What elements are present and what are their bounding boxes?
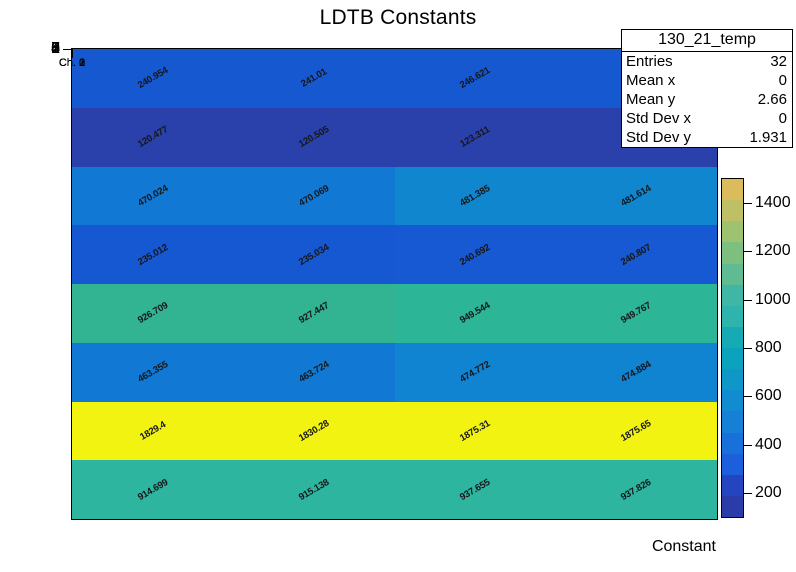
heatmap-cell[interactable]: 1830.28 — [233, 402, 394, 461]
stats-row-value: 32 — [770, 52, 787, 71]
color-scale-band — [722, 221, 743, 242]
heatmap-row: 470.024470.069481.385481.614 — [72, 167, 717, 226]
color-scale-band — [722, 179, 743, 200]
color-scale-tick-label: 1200 — [755, 242, 791, 260]
stats-row-key: Mean x — [626, 71, 675, 90]
heatmap-cell[interactable]: 123.311 — [395, 108, 556, 167]
color-scale-band — [722, 369, 743, 390]
heatmap-cell-value: 949.767 — [619, 300, 653, 326]
heatmap-cell-value: 481.614 — [619, 183, 653, 209]
page-title: LDTB Constants — [0, 6, 796, 30]
heatmap-cell[interactable]: 481.614 — [556, 167, 717, 226]
stats-box[interactable]: 130_21_temp Entries32Mean x0Mean y2.66St… — [621, 29, 793, 148]
heatmap-cell[interactable]: 474.772 — [395, 343, 556, 402]
heatmap-cell-value: 235.034 — [297, 242, 331, 268]
heatmap-cell-value: 246.621 — [458, 65, 492, 91]
heatmap-cell-value: 1830.28 — [297, 418, 331, 444]
heatmap-cell[interactable]: 463.724 — [233, 343, 394, 402]
heatmap-cell-value: 1875.31 — [458, 418, 492, 444]
color-scale-bar[interactable]: 200400600800100012001400 — [721, 178, 744, 518]
heatmap-cell[interactable]: 240.807 — [556, 225, 717, 284]
heatmap-cell[interactable]: 937.655 — [395, 460, 556, 519]
heatmap-cell-value: 1875.65 — [619, 418, 653, 444]
heatmap-cell[interactable]: 1829.4 — [72, 402, 233, 461]
stats-row: Mean y2.66 — [622, 90, 792, 109]
heatmap-row: 914.699915.138937.655937.826 — [72, 460, 717, 519]
color-scale-tick-label: 600 — [755, 387, 782, 405]
heatmap-cell[interactable]: 235.034 — [233, 225, 394, 284]
heatmap-cell-value: 120.477 — [136, 124, 170, 150]
color-scale-tick-label: 1000 — [755, 291, 791, 309]
heatmap-cell-value: 1829.4 — [138, 419, 168, 442]
heatmap-cell[interactable]: 240.692 — [395, 225, 556, 284]
stats-box-rows: Entries32Mean x0Mean y2.66Std Dev x0Std … — [622, 52, 792, 147]
heatmap-row: 235.012235.034240.692240.807 — [72, 225, 717, 284]
stats-row-value: 0 — [779, 109, 787, 128]
x-axis-title: Constant — [652, 538, 716, 556]
heatmap-cell-value: 241.01 — [299, 67, 329, 90]
heatmap-cell-value: 937.655 — [458, 477, 492, 503]
heatmap-cell[interactable]: 949.767 — [556, 284, 717, 343]
color-scale-band — [722, 242, 743, 263]
x-axis-tick-label: Ch. 3 — [59, 57, 85, 69]
heatmap-row: 1829.41830.281875.311875.65 — [72, 402, 717, 461]
heatmap-cell-value: 927.447 — [297, 300, 331, 326]
color-scale-band — [722, 433, 743, 454]
heatmap-cell-value: 470.024 — [136, 183, 170, 209]
color-scale-tick — [743, 300, 752, 301]
heatmap-cell[interactable]: 470.024 — [72, 167, 233, 226]
heatmap-cell-value: 949.544 — [458, 300, 492, 326]
heatmap-cell-value: 470.069 — [297, 183, 331, 209]
heatmap-cell-value: 240.807 — [619, 242, 653, 268]
heatmap-cell-value: 240.954 — [136, 65, 170, 91]
color-scale-tick — [743, 396, 752, 397]
heatmap-cell[interactable]: 246.621 — [395, 49, 556, 108]
root-canvas: LDTB Constants 240.954241.01246.621120.4… — [0, 0, 796, 572]
color-scale-tick-label: 200 — [755, 484, 782, 502]
heatmap-cell[interactable]: 481.385 — [395, 167, 556, 226]
color-scale-band — [722, 264, 743, 285]
heatmap-cell[interactable]: 240.954 — [72, 49, 233, 108]
color-scale-tick — [743, 348, 752, 349]
color-scale-band — [722, 306, 743, 327]
stats-row: Std Dev y1.931 — [622, 128, 792, 147]
heatmap-cell-value: 240.692 — [458, 242, 492, 268]
color-scale-tick — [743, 445, 752, 446]
stats-row-value: 2.66 — [758, 90, 787, 109]
color-scale-gradient — [722, 179, 743, 517]
heatmap-cell-value: 120.505 — [297, 124, 331, 150]
heatmap-cell-value: 915.138 — [297, 477, 331, 503]
heatmap-cell[interactable]: 463.355 — [72, 343, 233, 402]
heatmap-cell[interactable]: 949.544 — [395, 284, 556, 343]
color-scale-band — [722, 390, 743, 411]
heatmap-cell[interactable]: 235.012 — [72, 225, 233, 284]
color-scale-tick — [743, 251, 752, 252]
y-axis-tick — [63, 49, 72, 50]
color-scale-tick-label: 1400 — [755, 194, 791, 212]
heatmap-row: 926.709927.447949.544949.767 — [72, 284, 717, 343]
heatmap-cell[interactable]: 1875.31 — [395, 402, 556, 461]
stats-row: Std Dev x0 — [622, 109, 792, 128]
heatmap-cell-value: 474.772 — [458, 359, 492, 385]
heatmap-cell-value: 937.826 — [619, 477, 653, 503]
color-scale-band — [722, 454, 743, 475]
heatmap-cell[interactable]: 914.699 — [72, 460, 233, 519]
heatmap-cell[interactable]: 1875.65 — [556, 402, 717, 461]
color-scale-band — [722, 200, 743, 221]
stats-row-value: 1.931 — [749, 128, 787, 147]
stats-row-key: Std Dev y — [626, 128, 691, 147]
color-scale-tick-label: 800 — [755, 339, 782, 357]
stats-row-key: Std Dev x — [626, 109, 691, 128]
heatmap-cell[interactable]: 915.138 — [233, 460, 394, 519]
stats-row: Entries32 — [622, 52, 792, 71]
heatmap-cell[interactable]: 927.447 — [233, 284, 394, 343]
stats-row-key: Entries — [626, 52, 673, 71]
heatmap-cell[interactable]: 120.505 — [233, 108, 394, 167]
stats-row-value: 0 — [779, 71, 787, 90]
heatmap-cell-value: 123.311 — [458, 124, 492, 150]
heatmap-cell-value: 474.884 — [619, 359, 653, 385]
color-scale-band — [722, 327, 743, 348]
color-scale-band — [722, 475, 743, 496]
stats-box-title: 130_21_temp — [622, 30, 792, 52]
color-scale-band — [722, 348, 743, 369]
color-scale-band — [722, 411, 743, 432]
color-scale-band — [722, 285, 743, 306]
heatmap-cell[interactable]: 474.884 — [556, 343, 717, 402]
heatmap-cell-value: 926.709 — [136, 300, 170, 326]
heatmap-cell[interactable]: 470.069 — [233, 167, 394, 226]
stats-row: Mean x0 — [622, 71, 792, 90]
heatmap-row: 463.355463.724474.772474.884 — [72, 343, 717, 402]
heatmap-cell[interactable]: 926.709 — [72, 284, 233, 343]
color-scale-tick — [743, 493, 752, 494]
heatmap-cell-value: 235.012 — [136, 242, 170, 268]
stats-row-key: Mean y — [626, 90, 675, 109]
heatmap-cell[interactable]: 241.01 — [233, 49, 394, 108]
color-scale-tick-label: 400 — [755, 436, 782, 454]
y-axis-tick-label: 8 — [51, 40, 60, 58]
color-scale-tick — [743, 203, 752, 204]
heatmap-cell-value: 463.355 — [136, 359, 170, 385]
heatmap-cell-value: 463.724 — [297, 359, 331, 385]
color-scale-band — [722, 496, 743, 517]
heatmap-cell[interactable]: 937.826 — [556, 460, 717, 519]
heatmap-cell-value: 481.385 — [458, 183, 492, 209]
heatmap-cell-value: 914.699 — [136, 477, 170, 503]
heatmap-cell[interactable]: 120.477 — [72, 108, 233, 167]
